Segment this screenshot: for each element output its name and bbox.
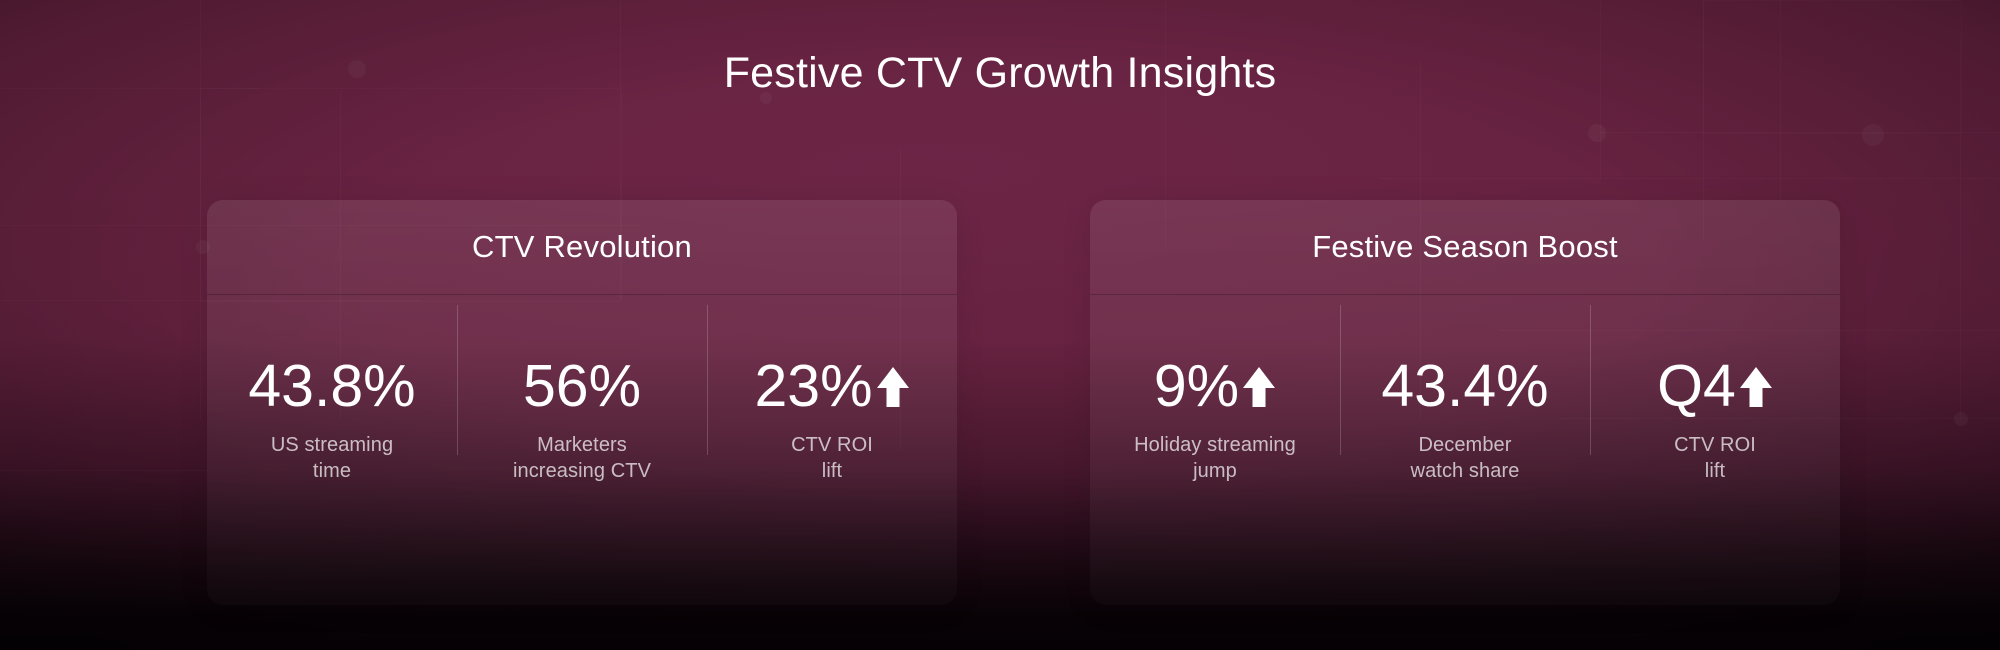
stat-label-line1: US streaming	[271, 434, 393, 456]
stat-label: US streaming time	[213, 432, 451, 485]
stat-value: Q4	[1657, 357, 1736, 416]
grid-line-vertical	[1780, 0, 1781, 200]
stat-label-line2: lift	[822, 460, 842, 482]
card-header: Festive Season Boost	[1090, 200, 1840, 295]
arrow-up-icon	[1242, 365, 1276, 409]
arrow-up-icon	[876, 365, 910, 409]
stat-value: 56%	[523, 357, 641, 416]
stat-value-group: 23%	[713, 357, 951, 416]
network-node-dot	[1862, 124, 1884, 146]
stat-label-line2: lift	[1705, 460, 1725, 482]
stat-value: 43.8%	[248, 357, 415, 416]
stat-label: CTV ROI lift	[1596, 432, 1834, 485]
stat-value: 9%	[1154, 357, 1239, 416]
stat-label: Marketers increasing CTV	[463, 432, 701, 485]
stat-label: CTV ROI lift	[713, 432, 951, 485]
stat-label-line2: watch share	[1411, 460, 1520, 482]
stat-item[interactable]: Q4 CTV ROI lift	[1590, 357, 1840, 485]
stat-card-festive-season-boost[interactable]: Festive Season Boost 9% Holiday streamin…	[1090, 200, 1840, 605]
stat-label: December watch share	[1346, 432, 1584, 485]
stat-value: 23%	[754, 357, 872, 416]
grid-line-horizontal	[1380, 178, 2000, 179]
stat-label-line2: jump	[1193, 460, 1237, 482]
stat-item[interactable]: 43.8% US streaming time	[207, 357, 457, 485]
arrow-up-icon	[1739, 365, 1773, 409]
stat-item[interactable]: 23% CTV ROI lift	[707, 357, 957, 485]
stat-label-line1: December	[1418, 434, 1511, 456]
stat-value-group: 56%	[463, 357, 701, 416]
stat-label-line1: CTV ROI	[1674, 434, 1756, 456]
card-header: CTV Revolution	[207, 200, 957, 295]
stats-row: 9% Holiday streaming jump 43	[1090, 295, 1840, 485]
network-node-dot	[1588, 124, 1606, 142]
stat-item[interactable]: 56% Marketers increasing CTV	[457, 357, 707, 485]
stat-card-ctv-revolution[interactable]: CTV Revolution 43.8% US streaming time 5…	[207, 200, 957, 605]
stat-value-group: Q4	[1596, 357, 1834, 416]
stat-label-line1: CTV ROI	[791, 434, 873, 456]
stat-value-group: 43.8%	[213, 357, 451, 416]
stat-cards-container: CTV Revolution 43.8% US streaming time 5…	[0, 200, 2000, 610]
stat-value-group: 43.4%	[1346, 357, 1584, 416]
stats-row: 43.8% US streaming time 56% Marketers in…	[207, 295, 957, 485]
card-title: CTV Revolution	[472, 229, 692, 265]
stat-value-group: 9%	[1096, 357, 1334, 416]
stat-label-line2: time	[313, 460, 351, 482]
page-title: Festive CTV Growth Insights	[0, 50, 2000, 97]
grid-line-horizontal	[1600, 132, 2000, 133]
infographic-canvas: Festive CTV Growth Insights CTV Revoluti…	[0, 0, 2000, 650]
card-title: Festive Season Boost	[1312, 229, 1618, 265]
stat-label-line1: Marketers	[537, 434, 627, 456]
stat-label: Holiday streaming jump	[1096, 432, 1334, 485]
stat-label-line2: increasing CTV	[513, 460, 651, 482]
stat-value: 43.4%	[1381, 357, 1548, 416]
stat-item[interactable]: 43.4% December watch share	[1340, 357, 1590, 485]
stat-item[interactable]: 9% Holiday streaming jump	[1090, 357, 1340, 485]
stat-label-line1: Holiday streaming	[1134, 434, 1296, 456]
